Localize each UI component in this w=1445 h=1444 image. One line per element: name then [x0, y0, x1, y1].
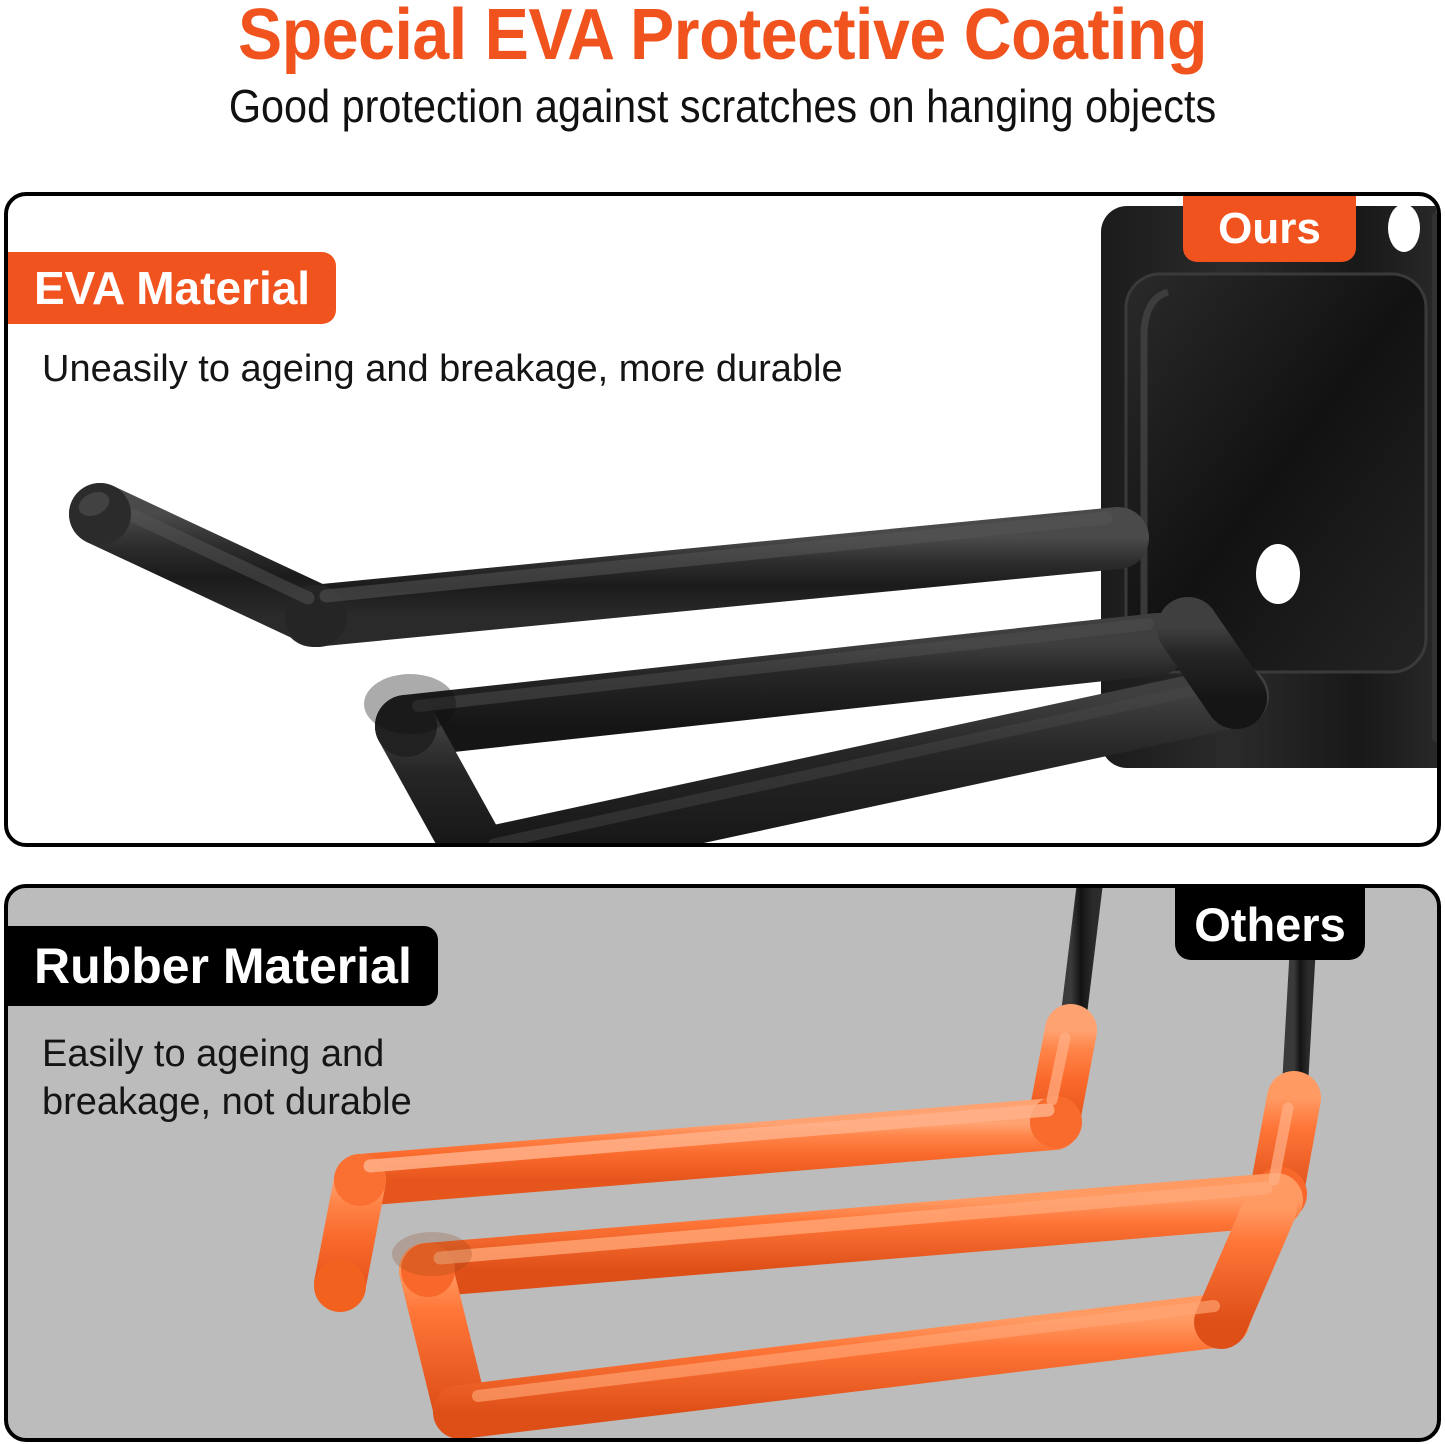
page-subtitle: Good protection against scratches on han… — [72, 80, 1373, 132]
ours-panel: Ours EVA Material Uneasily to ageing and… — [4, 192, 1441, 847]
hook-lower-arm — [375, 624, 1238, 843]
ours-badge: Ours — [1183, 196, 1356, 262]
eva-material-description: Uneasily to ageing and breakage, more du… — [42, 346, 843, 392]
page-title: Special EVA Protective Coating — [58, 0, 1387, 72]
others-badge: Others — [1175, 888, 1365, 960]
rubber-material-description: Easily to ageing and breakage, not durab… — [42, 1030, 412, 1126]
rubber-material-label: Rubber Material — [4, 926, 438, 1006]
page-header: Special EVA Protective Coating Good prot… — [0, 0, 1445, 178]
others-panel: Others Rubber Material Easily to ageing … — [4, 884, 1441, 1442]
hook-upper-arm — [69, 483, 1118, 647]
eva-material-label: EVA Material — [4, 252, 336, 324]
